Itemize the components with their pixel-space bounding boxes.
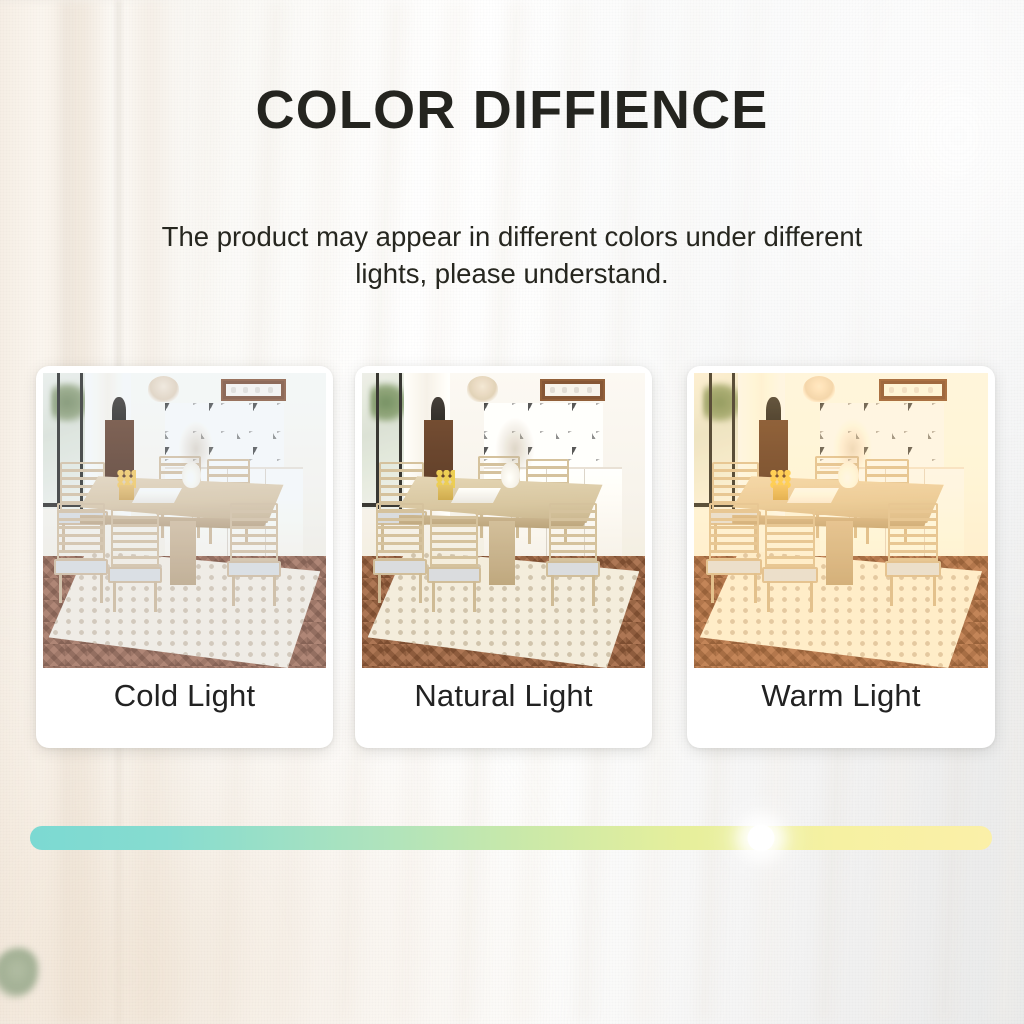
product-photo-cold-light xyxy=(43,373,326,668)
light-comparison-cards: Cold Light xyxy=(36,366,996,748)
slider-track[interactable] xyxy=(30,826,992,850)
card-label-cold-light: Cold Light xyxy=(36,678,333,714)
card-natural-light[interactable]: Natural Light xyxy=(355,366,652,748)
page-title: COLOR DIFFIENCE xyxy=(0,79,1024,141)
card-label-warm-light: Warm Light xyxy=(687,678,995,714)
product-photo-natural-light xyxy=(362,373,645,668)
page-subtitle: The product may appear in different colo… xyxy=(152,218,872,292)
card-cold-light[interactable]: Cold Light xyxy=(36,366,333,748)
product-photo-warm-light xyxy=(694,373,988,668)
card-label-natural-light: Natural Light xyxy=(355,678,652,714)
warm-light-tint xyxy=(694,373,988,668)
natural-light-tint xyxy=(362,373,645,668)
slider-knob[interactable] xyxy=(748,825,775,852)
card-warm-light[interactable]: Warm Light xyxy=(687,366,995,748)
cold-light-tint xyxy=(43,373,326,668)
color-temperature-slider[interactable] xyxy=(30,826,992,850)
